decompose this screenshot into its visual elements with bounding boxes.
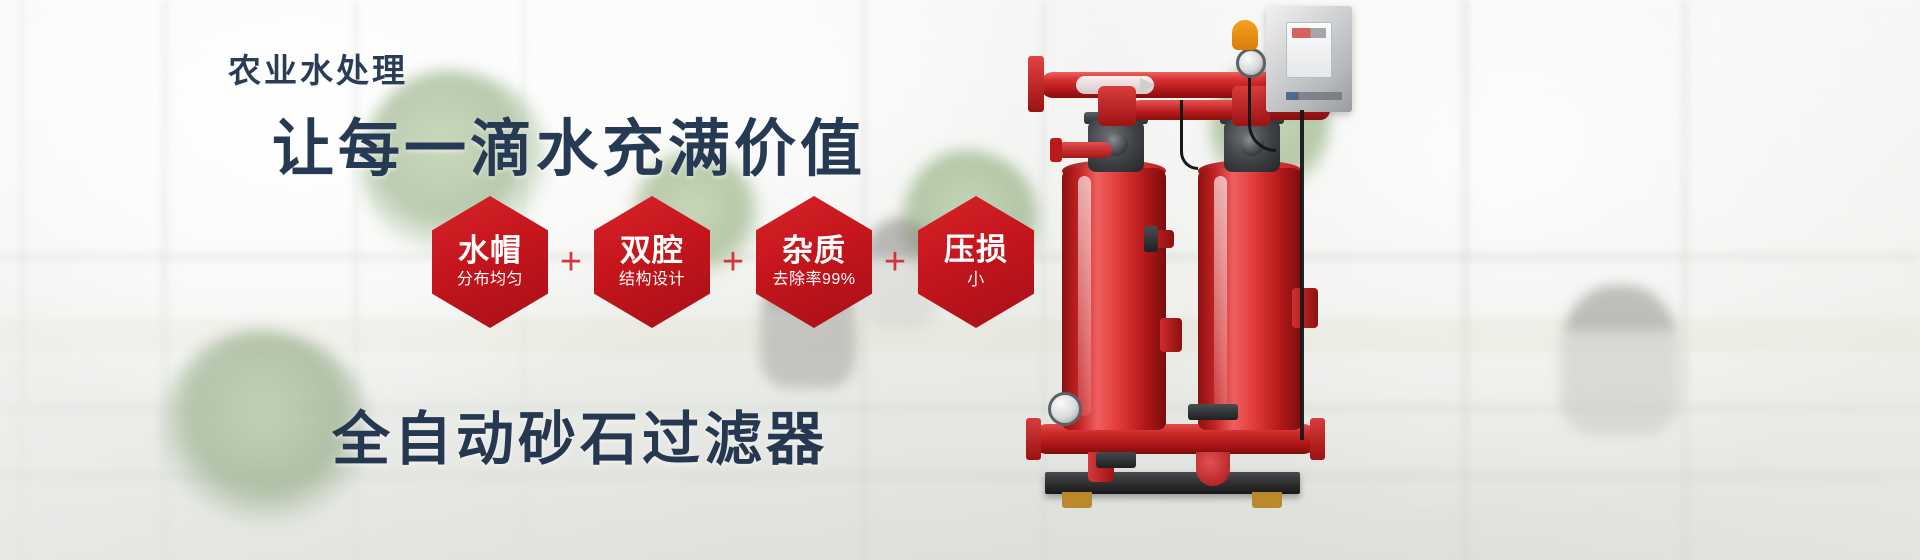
badge-subtitle: 小: [967, 271, 985, 290]
pipe-flange: [1310, 418, 1325, 460]
pipe-clamp: [1096, 452, 1136, 468]
eyebrow-text: 农业水处理: [228, 44, 408, 92]
sand-filter-machine-image: [1000, 0, 1500, 560]
badge-title: 双腔: [620, 235, 684, 268]
machine-base-foot: [1062, 492, 1092, 508]
machine-base-plate: [1045, 472, 1300, 494]
plus-separator-icon: +: [872, 243, 918, 281]
control-cable: [1300, 110, 1304, 440]
air-release-arm: [1056, 142, 1112, 158]
badge-title: 杂质: [782, 235, 846, 268]
machine-base-foot: [1252, 492, 1282, 508]
plus-separator-icon: +: [548, 243, 594, 281]
product-banner: 农业水处理 让每一滴水充满价值 全自动砂石过滤器 水帽 分布均匀 + 双腔 结构…: [0, 0, 1920, 560]
product-name-title: 全自动砂石过滤器: [332, 392, 828, 476]
pipe-clamp: [1188, 404, 1238, 420]
tee-connector: [1098, 86, 1136, 126]
pressure-gauge: [1236, 48, 1266, 78]
tank-side-port: [1160, 318, 1182, 352]
badge-subtitle: 去除率99%: [772, 271, 855, 289]
feature-badge-row: 水帽 分布均匀 + 双腔 结构设计 + 杂质 去除率99% + 压损 小: [432, 196, 1034, 328]
pressure-gauge: [1048, 392, 1082, 426]
controller-brand-mark: [1292, 28, 1326, 38]
air-release-cap: [1050, 138, 1062, 162]
plus-separator-icon: +: [710, 243, 756, 281]
air-valve: [1232, 20, 1258, 50]
control-box-logo: [1286, 92, 1342, 100]
flow-direction-arrow-icon: [1140, 78, 1155, 92]
tank-highlight: [1078, 176, 1091, 416]
badge-subtitle: 分布均匀: [457, 271, 523, 289]
feature-badge-water-cap: 水帽 分布均匀: [432, 196, 548, 328]
tank-highlight: [1214, 176, 1227, 416]
badge-title: 水帽: [458, 235, 522, 268]
pipe-flange: [1028, 56, 1044, 112]
badge-title: 压损: [944, 234, 1008, 267]
drain-outlet: [1196, 452, 1230, 486]
badge-subtitle: 结构设计: [619, 271, 685, 289]
tank-side-port: [1292, 288, 1318, 328]
pipe-flange: [1026, 418, 1041, 460]
feature-badge-dual-chamber: 双腔 结构设计: [594, 196, 710, 328]
control-cable: [1180, 100, 1198, 170]
feature-badge-impurity: 杂质 去除率99%: [756, 196, 872, 328]
page-title: 让每一滴水充满价值: [272, 98, 866, 188]
pipe-clamp: [1144, 226, 1158, 252]
